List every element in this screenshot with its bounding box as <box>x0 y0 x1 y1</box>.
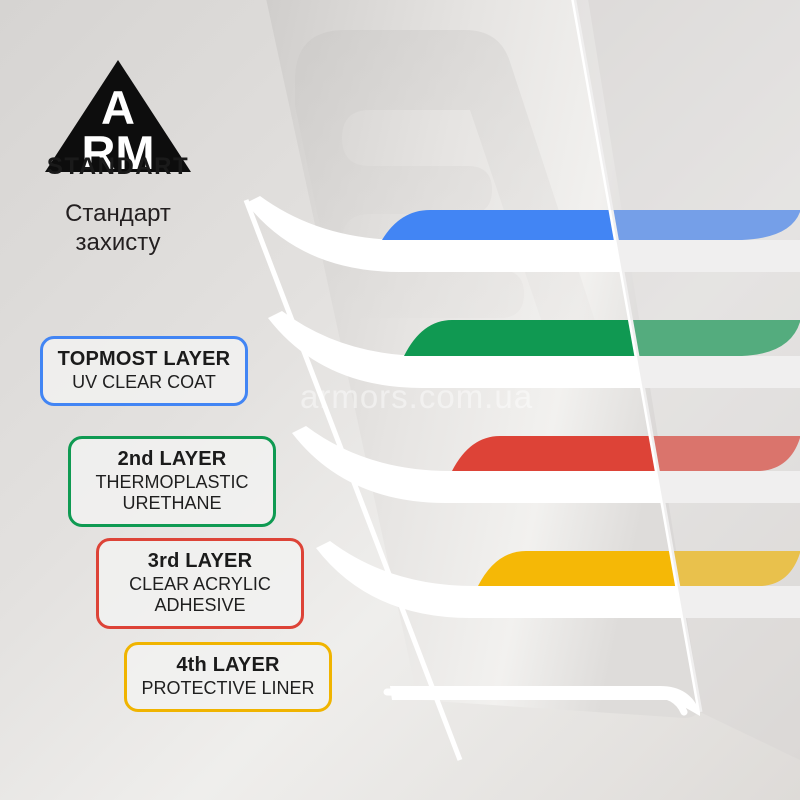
callout-layer-1: TOPMOST LAYER UV CLEAR COAT <box>40 336 248 406</box>
callout-subtitle-line-1: UV CLEAR COAT <box>57 372 231 393</box>
callout-subtitle-line-1: CLEAR ACRYLIC <box>113 574 287 595</box>
tagline-line-1: Стандарт <box>28 199 208 228</box>
infographic-canvas: armors.com.ua A RM STANDART Стандарт зах… <box>0 0 800 800</box>
callout-title: TOPMOST LAYER <box>57 347 231 372</box>
callout-subtitle-line-2: ADHESIVE <box>113 595 287 616</box>
callout-title: 2nd LAYER <box>85 447 259 472</box>
callout-subtitle-line-1: PROTECTIVE LINER <box>141 678 315 699</box>
brand-tagline: Стандарт захисту <box>28 199 208 258</box>
callout-subtitle-line-2: URETHANE <box>85 493 259 514</box>
callout-subtitle-line-1: THERMOPLASTIC <box>85 472 259 493</box>
callout-title: 4th LAYER <box>141 653 315 678</box>
callout-title: 3rd LAYER <box>113 549 287 574</box>
callout-layer-2: 2nd LAYER THERMOPLASTIC URETHANE <box>68 436 276 527</box>
callout-layer-4: 4th LAYER PROTECTIVE LINER <box>124 642 332 712</box>
arm-triangle-icon: A RM STANDART <box>33 52 203 177</box>
callout-layer-3: 3rd LAYER CLEAR ACRYLIC ADHESIVE <box>96 538 304 629</box>
arm-standart-logo: A RM STANDART <box>33 52 203 177</box>
logo-wordmark: STANDART <box>47 153 189 177</box>
brand-logo-block: A RM STANDART Стандарт захисту <box>28 52 208 258</box>
tagline-line-2: захисту <box>28 228 208 257</box>
